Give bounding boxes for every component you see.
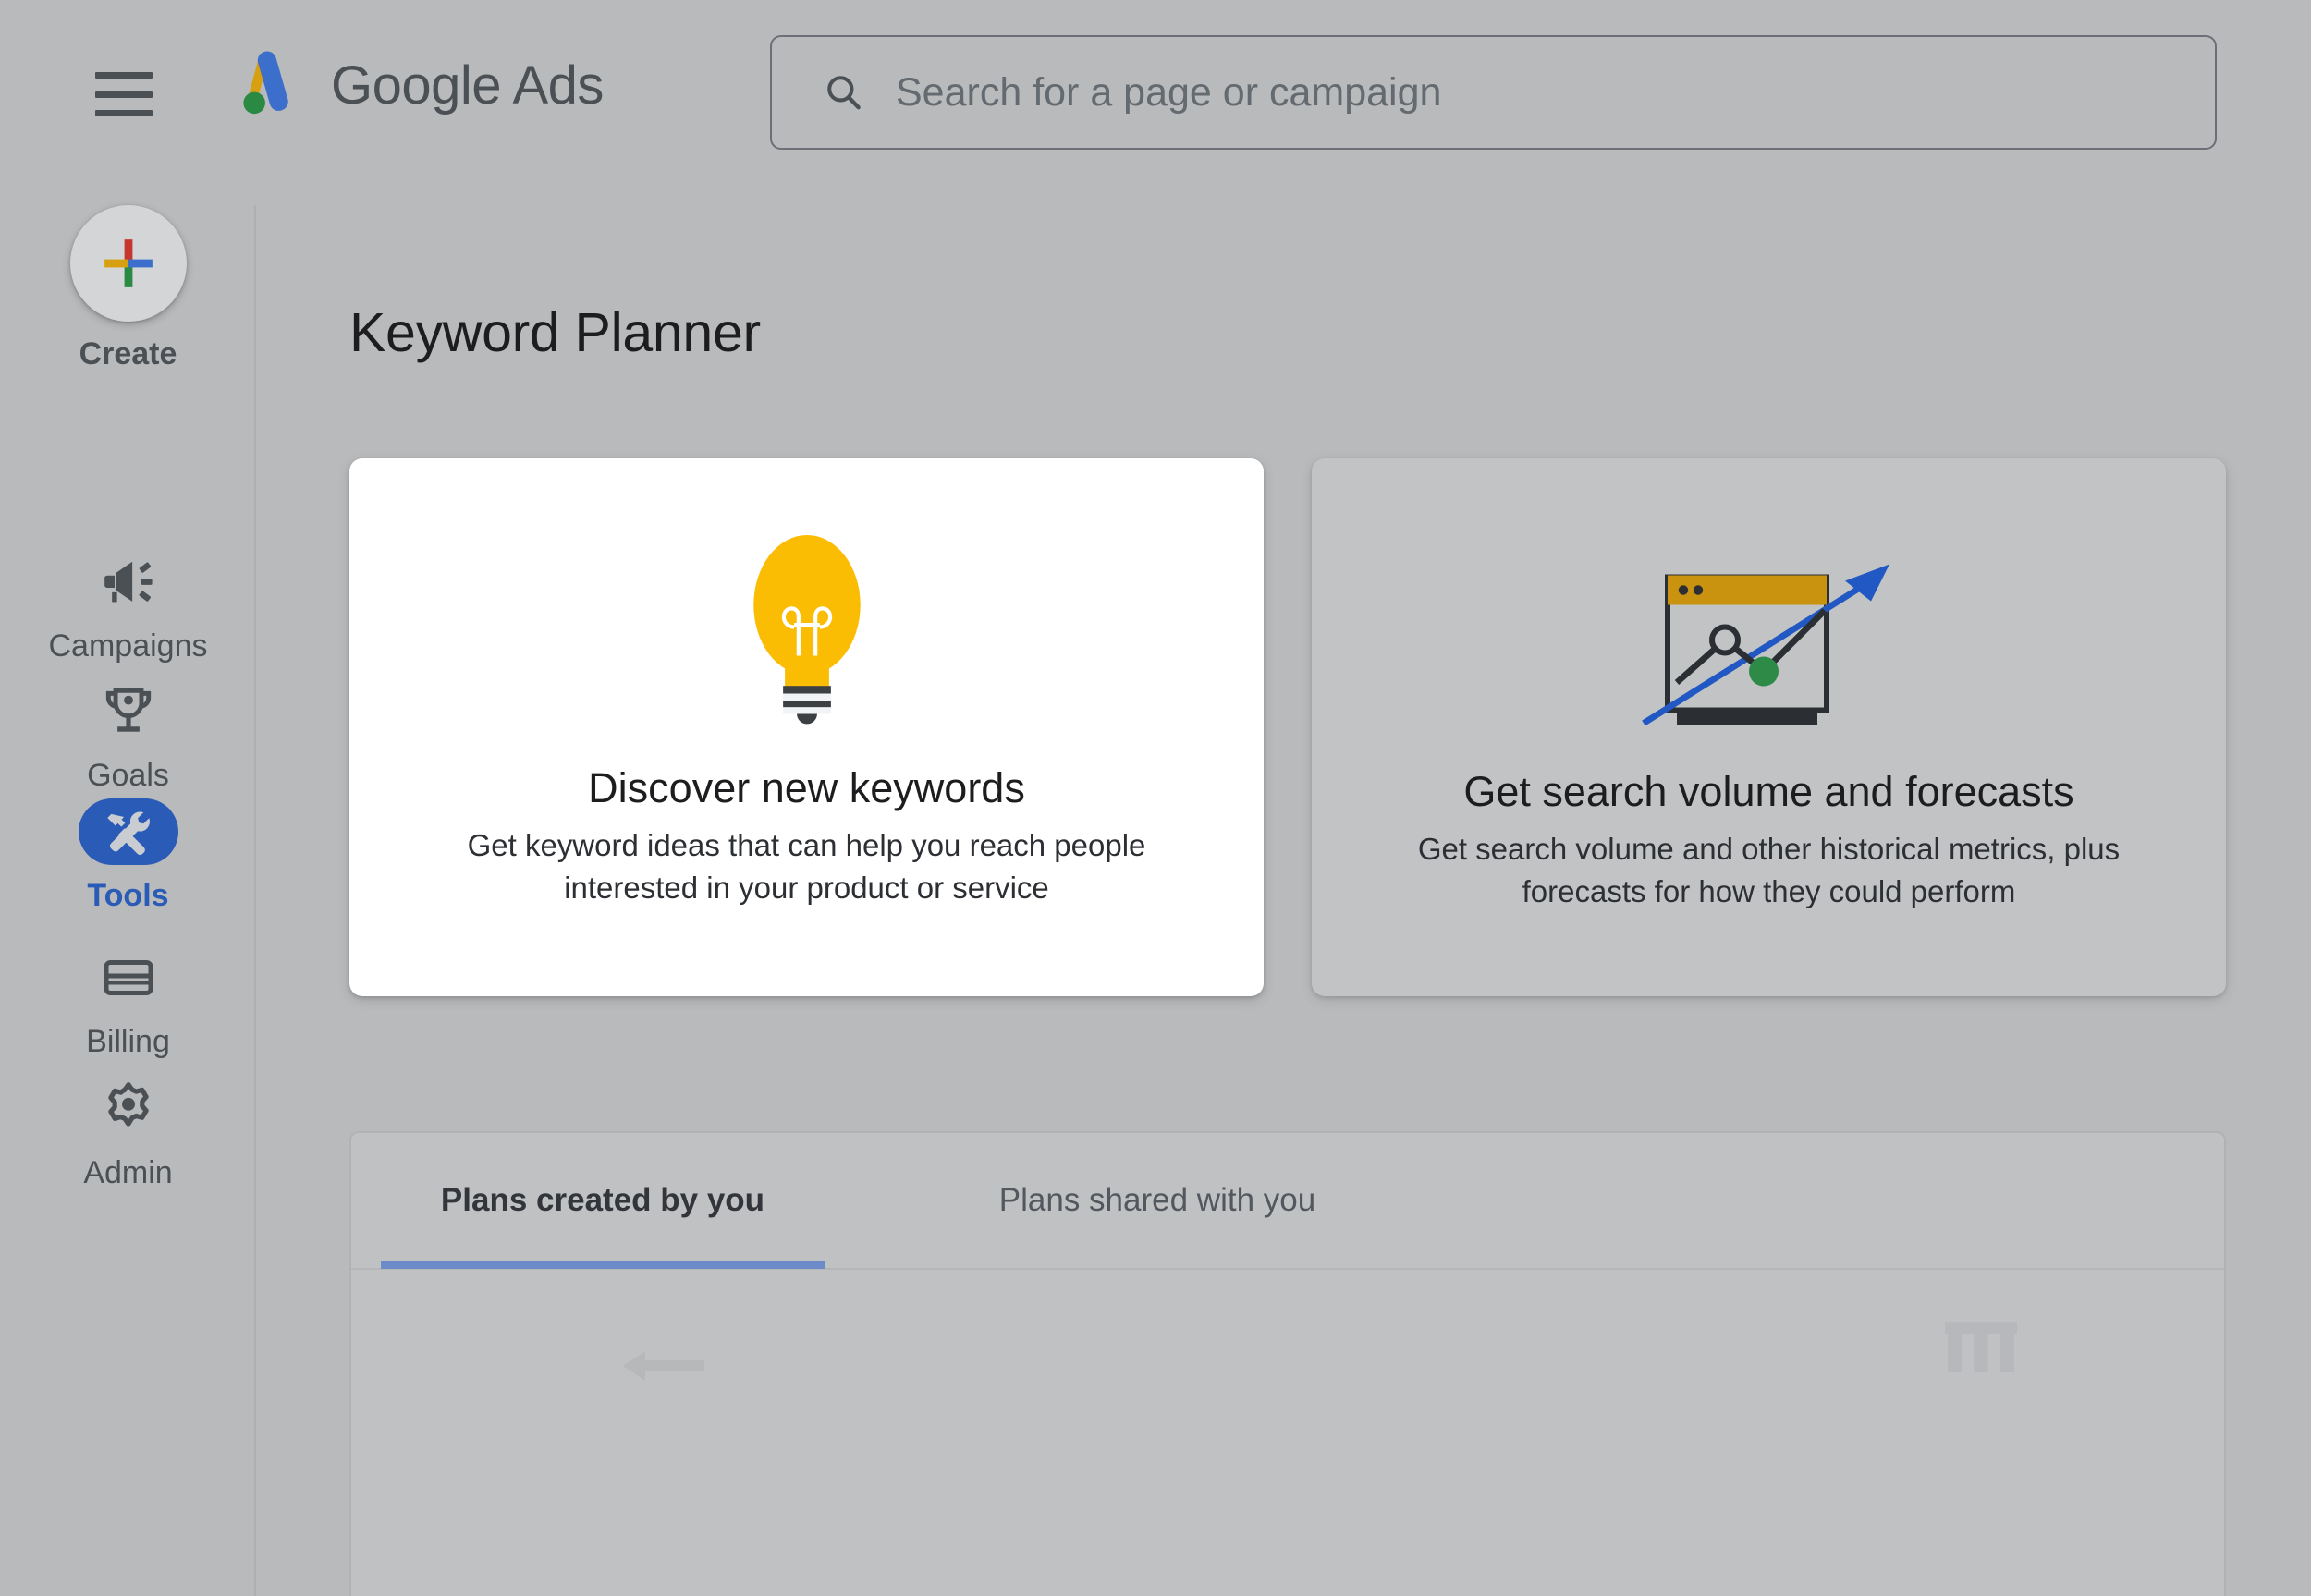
google-ads-logo-icon xyxy=(231,43,316,128)
active-tab-underline xyxy=(381,1261,825,1269)
admin-icon-wrap xyxy=(79,1076,178,1142)
brand-word-ads: Ads xyxy=(512,55,603,116)
hamburger-menu-icon[interactable] xyxy=(95,72,153,116)
sidebar-item-tools[interactable]: Tools xyxy=(0,798,256,914)
chart-growth-window-icon xyxy=(1631,536,1908,725)
card-description-discover: Get keyword ideas that can help you reac… xyxy=(442,824,1172,908)
search-input[interactable]: Search for a page or campaign xyxy=(770,35,2217,150)
sidebar-item-goals[interactable]: Goals xyxy=(0,678,256,794)
chart-growth-illustration xyxy=(1631,529,1908,732)
tab-plans-created-by-you[interactable]: Plans created by you xyxy=(381,1132,825,1269)
hamburger-bar-2 xyxy=(95,91,153,98)
gear-icon xyxy=(100,1080,157,1138)
sidebar-item-label-campaigns: Campaigns xyxy=(49,628,208,664)
feature-cards-row: Discover new keywords Get keyword ideas … xyxy=(349,458,2226,996)
sidebar-item-label-tools: Tools xyxy=(87,878,168,914)
left-arrow-icon[interactable] xyxy=(601,1344,712,1388)
table-columns-icon[interactable] xyxy=(1939,1314,2023,1381)
tools-wrench-hammer-icon xyxy=(102,805,155,859)
billing-icon-wrap xyxy=(79,944,178,1011)
sidebar-item-billing[interactable]: Billing xyxy=(0,944,256,1060)
goals-icon-wrap xyxy=(79,678,178,745)
sidebar-item-campaigns[interactable]: Campaigns xyxy=(0,549,256,664)
top-header: Google Ads Search for a page or campaign xyxy=(0,0,2311,205)
discover-new-keywords-card[interactable]: Discover new keywords Get keyword ideas … xyxy=(349,458,1264,996)
credit-card-icon xyxy=(101,950,156,1005)
card-title-forecast: Get search volume and forecasts xyxy=(1463,769,2073,815)
search-icon xyxy=(824,72,864,113)
campaigns-icon-wrap xyxy=(79,549,178,615)
tab-label-created: Plans created by you xyxy=(441,1182,764,1219)
sidebar-item-admin[interactable]: Admin xyxy=(0,1076,256,1191)
plans-tabs-bar: Plans created by you Plans shared with y… xyxy=(351,1133,2226,1270)
google-ads-keyword-planner-screen: Google Ads Search for a page or campaign xyxy=(0,0,2311,1596)
left-navigation-rail: Create Campaigns xyxy=(0,205,256,1596)
search-placeholder: Search for a page or campaign xyxy=(896,70,1441,116)
hamburger-bar-3 xyxy=(95,110,153,116)
sidebar-item-label-goals: Goals xyxy=(87,758,169,794)
sidebar-item-label-admin: Admin xyxy=(83,1155,172,1191)
plans-panel: Plans created by you Plans shared with y… xyxy=(349,1131,2226,1596)
plus-icon xyxy=(98,233,159,294)
google-ads-brand[interactable]: Google Ads xyxy=(231,43,604,128)
tab-plans-shared-with-you[interactable]: Plans shared with you xyxy=(935,1132,1379,1269)
sidebar-item-create[interactable]: Create xyxy=(0,205,256,372)
tools-icon-wrap-active xyxy=(79,798,178,865)
main-content: Keyword Planner xyxy=(258,205,2311,1596)
lightbulb-icon xyxy=(733,528,881,726)
brand-word-google: Google xyxy=(331,55,501,116)
create-button-circle[interactable] xyxy=(70,205,187,322)
get-search-volume-and-forecasts-card[interactable]: Get search volume and forecasts Get sear… xyxy=(1312,458,2226,996)
brand-text: Google Ads xyxy=(331,55,604,116)
sidebar-item-label-create: Create xyxy=(79,336,177,372)
card-title-discover: Discover new keywords xyxy=(588,765,1025,811)
sidebar-item-label-billing: Billing xyxy=(86,1024,170,1060)
hamburger-bar-1 xyxy=(95,72,153,79)
page-title: Keyword Planner xyxy=(349,301,761,364)
lightbulb-illustration xyxy=(733,525,881,728)
megaphone-icon xyxy=(100,554,157,611)
tab-label-shared: Plans shared with you xyxy=(999,1182,1315,1219)
card-description-forecast: Get search volume and other historical m… xyxy=(1400,828,2139,912)
trophy-icon xyxy=(100,683,157,740)
